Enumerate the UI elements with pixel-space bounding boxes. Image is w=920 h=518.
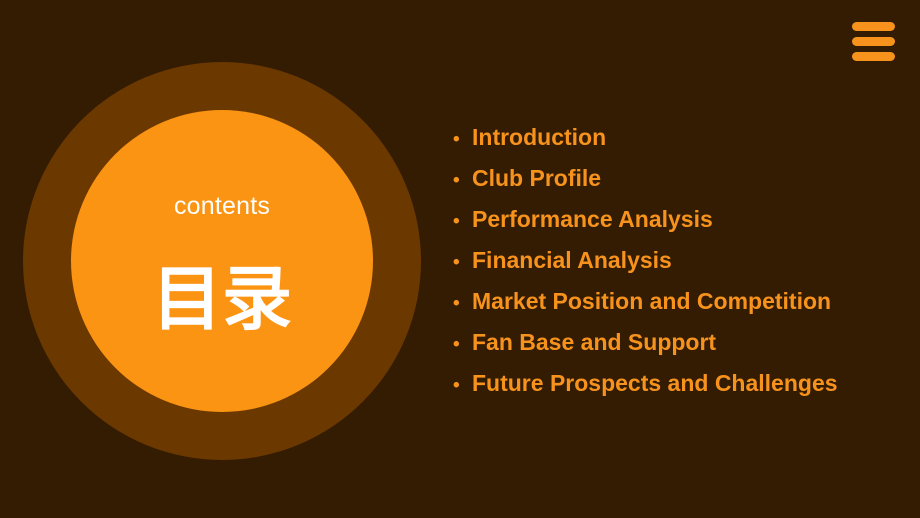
bullet-icon: • [453, 376, 472, 395]
contents-label-chinese: 目录 [71, 264, 373, 334]
agenda-item-future-prospects-and-challenges[interactable]: • Future Prospects and Challenges [453, 370, 893, 411]
contents-label-english: contents [71, 194, 373, 219]
agenda-item-label: Fan Base and Support [472, 329, 716, 356]
contents-ring: contents 目录 [23, 62, 421, 460]
agenda-item-club-profile[interactable]: • Club Profile [453, 165, 893, 206]
contents-slide: contents 目录 • Introduction • Club Profil… [0, 0, 920, 518]
agenda-item-financial-analysis[interactable]: • Financial Analysis [453, 247, 893, 288]
bullet-icon: • [453, 212, 472, 231]
bullet-icon: • [453, 130, 472, 149]
hamburger-menu-icon[interactable] [852, 22, 895, 61]
agenda-item-label: Market Position and Competition [472, 288, 831, 315]
hamburger-bar-top [852, 22, 895, 31]
agenda-item-label: Financial Analysis [472, 247, 672, 274]
agenda-item-label: Performance Analysis [472, 206, 713, 233]
agenda-item-label: Club Profile [472, 165, 601, 192]
agenda-list: • Introduction • Club Profile • Performa… [453, 124, 893, 411]
agenda-item-label: Introduction [472, 124, 606, 151]
hamburger-bar-bottom [852, 52, 895, 61]
agenda-item-introduction[interactable]: • Introduction [453, 124, 893, 165]
bullet-icon: • [453, 335, 472, 354]
agenda-item-label: Future Prospects and Challenges [472, 370, 838, 397]
agenda-item-performance-analysis[interactable]: • Performance Analysis [453, 206, 893, 247]
contents-circle: contents 目录 [71, 110, 373, 412]
bullet-icon: • [453, 294, 472, 313]
bullet-icon: • [453, 253, 472, 272]
agenda-item-market-position-and-competition[interactable]: • Market Position and Competition [453, 288, 893, 329]
bullet-icon: • [453, 171, 472, 190]
hamburger-bar-middle [852, 37, 895, 46]
agenda-item-fan-base-and-support[interactable]: • Fan Base and Support [453, 329, 893, 370]
